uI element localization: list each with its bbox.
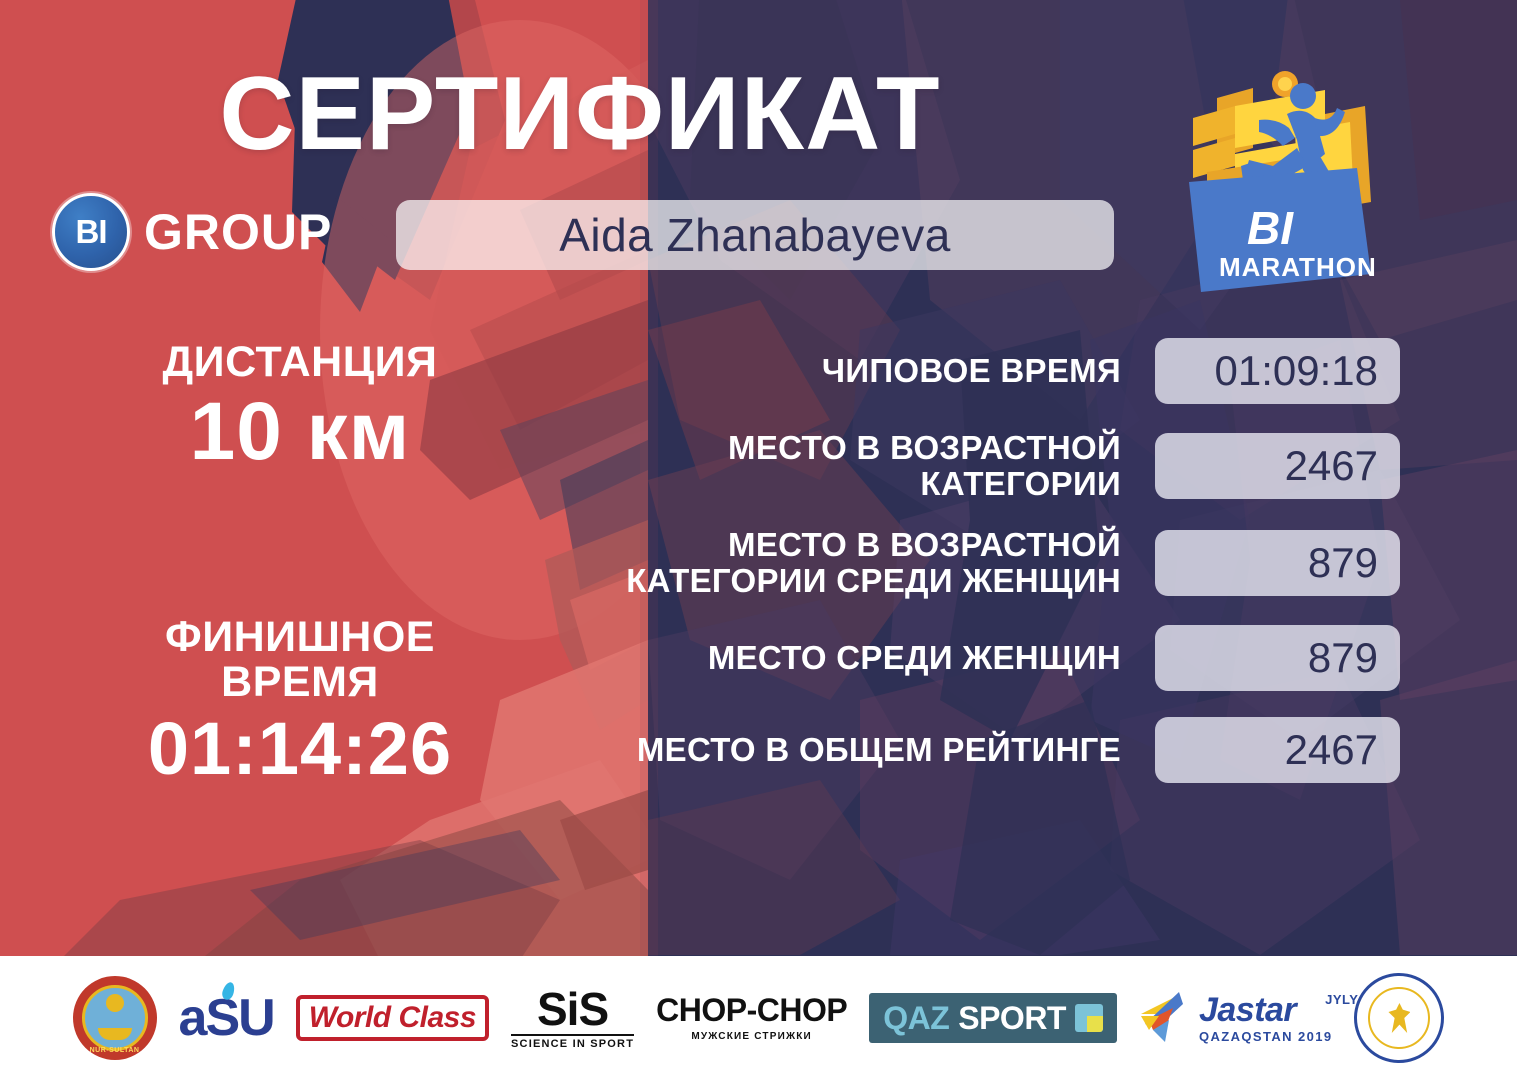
- sis-logo: SiS SCIENCE IN SPORT: [511, 986, 634, 1050]
- sis-tagline: SCIENCE IN SPORT: [511, 1034, 634, 1050]
- world-class-wordmark: World Class: [296, 995, 489, 1041]
- page-title: СЕРТИФИКАТ: [0, 62, 1160, 166]
- marathon-logo-word: MARATHON: [1219, 252, 1377, 282]
- sponsor-logo-sis: SiS SCIENCE IN SPORT: [511, 986, 634, 1050]
- jastar-wordmark: Jastar JYLY QAZAQSTAN 2019: [1199, 993, 1333, 1043]
- sponsor-logo-jastar: Jastar JYLY QAZAQSTAN 2019: [1139, 990, 1333, 1046]
- distance-block: ДИСТАНЦИЯ 10 км: [60, 340, 540, 475]
- stat-row: МЕСТО СРЕДИ ЖЕНЩИН 879: [520, 625, 1400, 691]
- qazsport-text-b: SPORT: [958, 1002, 1066, 1034]
- asu-wordmark: aSU: [179, 992, 274, 1044]
- finish-time-label-line1: ФИНИШНОЕ: [60, 615, 540, 660]
- stat-row: МЕСТО В ВОЗРАСТНОЙ КАТЕГОРИИ 2467: [520, 430, 1400, 501]
- stat-label: ЧИПОВОЕ ВРЕМЯ: [520, 353, 1155, 389]
- finish-time-label-line2: ВРЕМЯ: [60, 660, 540, 705]
- participant-name-field: Aida Zhanabayeva: [396, 200, 1114, 270]
- left-summary: ДИСТАНЦИЯ 10 км ФИНИШНОЕ ВРЕМЯ 01:14:26: [60, 340, 540, 787]
- qazsport-mark-icon: [1075, 1004, 1103, 1032]
- sis-wordmark: SiS: [511, 986, 634, 1032]
- sponsor-logo-qazsport: QAZ SPORT: [869, 993, 1117, 1043]
- stat-label: МЕСТО СРЕДИ ЖЕНЩИН: [520, 640, 1155, 676]
- stat-label: МЕСТО В ВОЗРАСТНОЙ КАТЕГОРИИ СРЕДИ ЖЕНЩИ…: [520, 527, 1155, 598]
- jastar-country: QAZAQSTAN 2019: [1199, 1030, 1333, 1043]
- jastar-arrow-icon: [1139, 990, 1191, 1046]
- sponsor-logo-nur-sultan: NUR-SULTAN: [73, 976, 157, 1060]
- sponsor-bar: NUR-SULTAN aSU World Class SiS SCIENCE I…: [0, 956, 1517, 1080]
- stat-value: 879: [1155, 625, 1400, 691]
- stat-value: 2467: [1155, 433, 1400, 499]
- stat-value: 2467: [1155, 717, 1400, 783]
- stat-value: 879: [1155, 530, 1400, 596]
- bi-badge-icon: BI: [52, 193, 130, 271]
- stat-row: МЕСТО В ВОЗРАСТНОЙ КАТЕГОРИИ СРЕДИ ЖЕНЩИ…: [520, 527, 1400, 598]
- bi-group-logo: BI GROUP: [52, 193, 332, 271]
- distance-value: 10 км: [60, 389, 540, 475]
- stat-row: МЕСТО В ОБЩЕМ РЕЙТИНГЕ 2467: [520, 717, 1400, 783]
- finish-time-value: 01:14:26: [60, 710, 540, 788]
- stat-row: ЧИПОВОЕ ВРЕМЯ 01:09:18: [520, 338, 1400, 404]
- bi-marathon-logo: BI MARATHON: [1175, 62, 1390, 302]
- ministry-seal-icon: [1354, 973, 1444, 1063]
- spacer: [60, 475, 540, 615]
- chop-chop-tagline: МУЖСКИЕ СТРИЖКИ: [656, 1032, 847, 1042]
- participant-name: Aida Zhanabayeva: [559, 208, 951, 262]
- jastar-logo: Jastar JYLY QAZAQSTAN 2019: [1139, 990, 1333, 1046]
- stats-list: ЧИПОВОЕ ВРЕМЯ 01:09:18 МЕСТО В ВОЗРАСТНО…: [520, 338, 1400, 805]
- sponsor-logo-asu: aSU: [179, 992, 274, 1044]
- sponsor-logo-chop-chop: CHOP-CHOP МУЖСКИЕ СТРИЖКИ: [656, 994, 847, 1042]
- stat-label: МЕСТО В ОБЩЕМ РЕЙТИНГЕ: [520, 732, 1155, 768]
- finish-time-block: ФИНИШНОЕ ВРЕМЯ 01:14:26: [60, 615, 540, 787]
- marathon-logo-bi: BI: [1247, 202, 1294, 254]
- nur-sultan-label: NUR-SULTAN: [73, 1047, 157, 1054]
- chop-chop-logo: CHOP-CHOP МУЖСКИЕ СТРИЖКИ: [656, 994, 847, 1042]
- jastar-sup: JYLY: [1325, 993, 1358, 1006]
- sponsor-logo-ministry: [1354, 973, 1444, 1063]
- certificate: СЕРТИФИКАТ BI GROUP Aida Zhanabayeva: [0, 0, 1517, 1080]
- stat-label: МЕСТО В ВОЗРАСТНОЙ КАТЕГОРИИ: [520, 430, 1155, 501]
- distance-label: ДИСТАНЦИЯ: [60, 340, 540, 385]
- stat-value: 01:09:18: [1155, 338, 1400, 404]
- nur-sultan-emblem-icon: NUR-SULTAN: [73, 976, 157, 1060]
- qazsport-text-a: QAZ: [883, 1002, 949, 1034]
- chop-chop-wordmark: CHOP-CHOP: [656, 994, 847, 1026]
- sponsor-logo-world-class: World Class: [296, 995, 489, 1041]
- qazsport-logo: QAZ SPORT: [869, 993, 1117, 1043]
- jastar-name: Jastar: [1199, 993, 1333, 1027]
- bi-group-wordmark: GROUP: [144, 203, 332, 261]
